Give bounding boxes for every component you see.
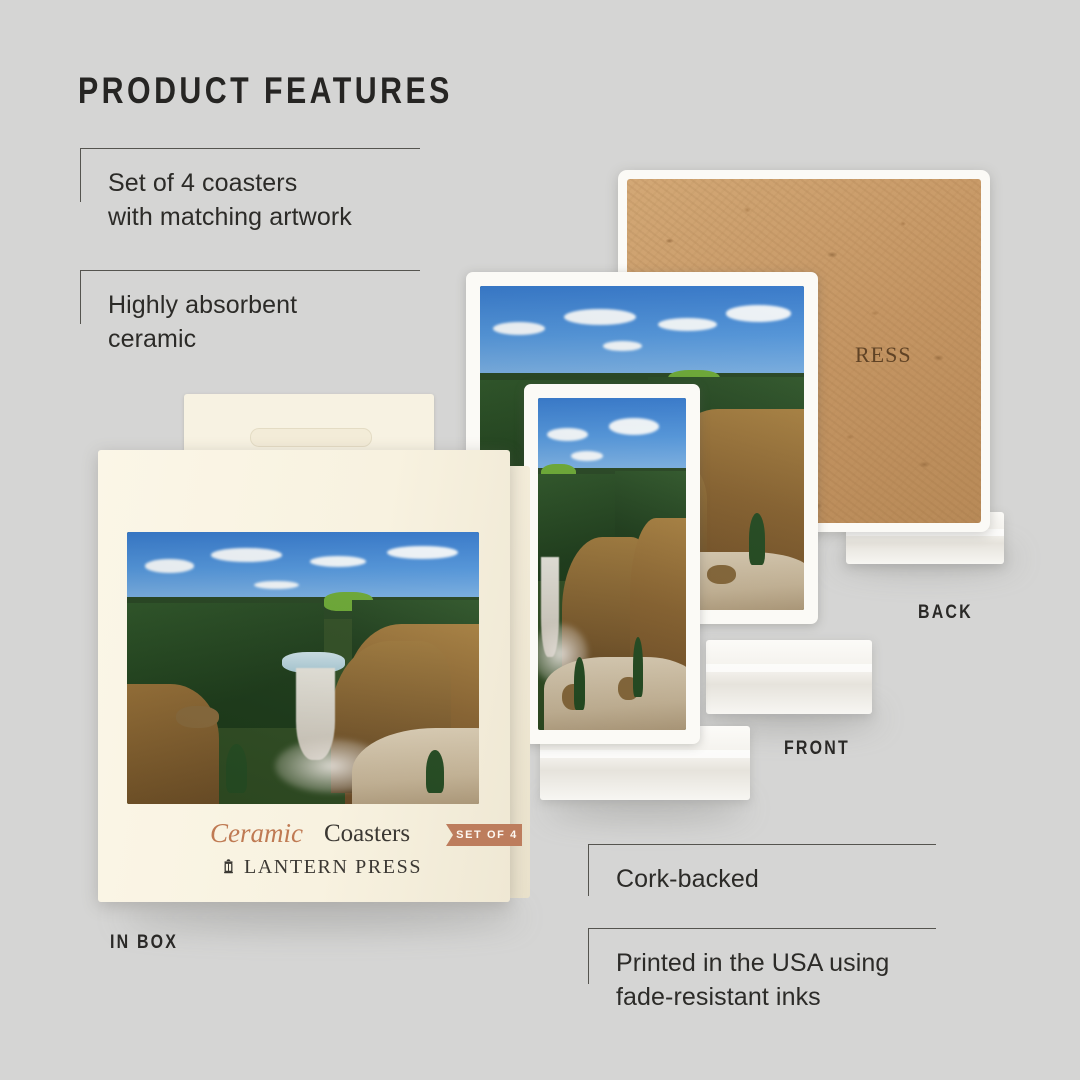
set-of-4-badge: SET OF 4 [446,824,522,846]
artwork-yellowstone [127,532,479,804]
box-hang-slot [250,428,372,447]
caption-in-box: IN BOX [110,932,178,954]
art-shading [127,532,479,804]
coaster-tile-front-art [524,384,700,744]
box-artwork-window [127,532,479,804]
artwork-yellowstone [538,398,686,730]
product-box: Ceramic Coasters SET OF 4 LANTERN PRESS [98,394,538,906]
lantern-icon [221,858,236,880]
front-coaster-stand [706,640,872,714]
box-label-script-word: Ceramic [210,818,303,849]
box-brand-text: LANTERN PRESS [244,856,422,879]
caption-front: FRONT [784,738,850,760]
box-shadow [120,904,520,930]
box-hang-tab [184,394,434,456]
caption-back: BACK [918,602,973,624]
product-photo-scene: RESS BACK [0,0,1080,1080]
stand-lip [540,750,750,758]
cork-brand-text: RESS [855,342,912,368]
box-label-serif-word: Coasters [324,820,410,848]
stand-lip [706,664,872,672]
coaster-art-window [538,398,686,730]
box-front-face: Ceramic Coasters SET OF 4 LANTERN PRESS [98,450,510,902]
art-shading [538,398,686,730]
product-feature-graphic: PRODUCT FEATURES Set of 4 coasters with … [0,0,1080,1080]
